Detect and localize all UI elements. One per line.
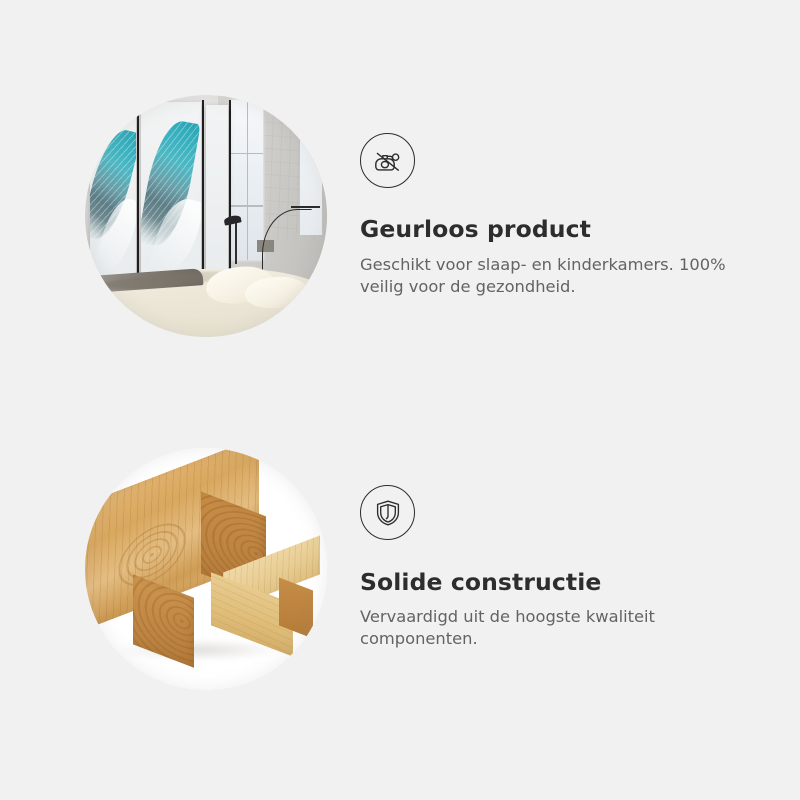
lamp-stand: [235, 216, 237, 264]
feature-title: Geurloos product: [360, 215, 760, 243]
wooden-beams-photo: [85, 448, 327, 690]
feature-list: Geurloos product Geschikt voor slaap- en…: [0, 0, 800, 800]
panel-divider: [202, 100, 204, 289]
feature-block-geurloos-product: Geurloos product Geschikt voor slaap- en…: [0, 70, 800, 420]
feature-text-column: Solide constructie Vervaardigd uit de ho…: [360, 423, 760, 650]
photo-inner: [85, 95, 327, 337]
feature-text-column: Geurloos product Geschikt voor slaap- en…: [360, 70, 760, 298]
shield-icon: [360, 485, 415, 540]
photo-inner: [85, 448, 327, 690]
panel-divider: [137, 100, 139, 289]
arc-lamp-bar: [291, 206, 320, 208]
feature-title: Solide constructie: [360, 568, 760, 596]
panel-divider: [229, 100, 231, 289]
no-fragrance-icon: [360, 133, 415, 188]
feature-description: Vervaardigd uit de hoogste kwaliteit com…: [360, 606, 742, 650]
feature-block-solide-constructie: Solide constructie Vervaardigd uit de ho…: [0, 423, 800, 773]
canvas-panel-right: [206, 105, 228, 274]
canvas-panel-middle: [141, 102, 202, 284]
no-fragrance-glyph: [371, 144, 405, 178]
canvas-panel-left: [90, 102, 136, 284]
bedroom-feather-canvas-photo: [85, 95, 327, 337]
window-mullion: [247, 100, 249, 260]
shield-glyph: [372, 497, 404, 529]
feature-description: Geschikt voor slaap- en kinderkamers. 10…: [360, 254, 742, 298]
